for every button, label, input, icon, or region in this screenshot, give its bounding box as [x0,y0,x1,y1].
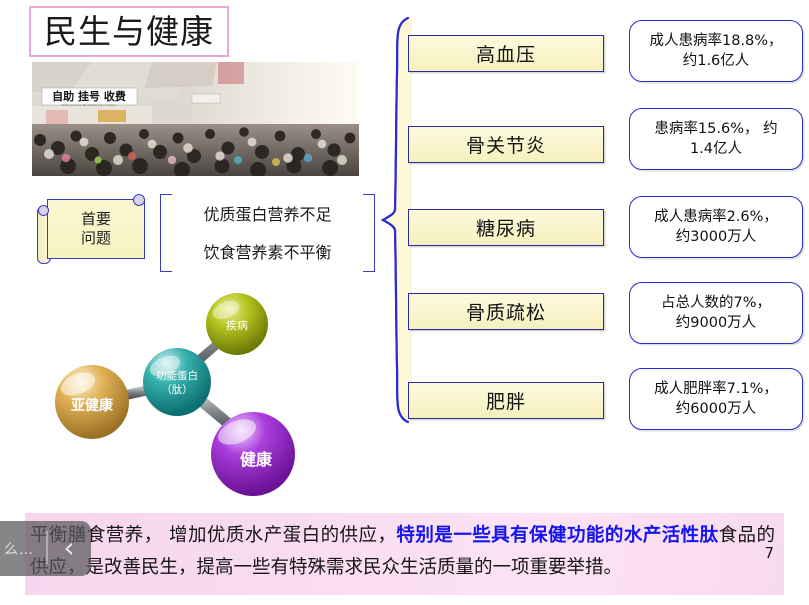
stat-box-hypertension[interactable]: 成人患病率18.8%，约1.6亿人 [629,20,803,82]
problem-item: 饮食营养素不平衡 [203,239,331,263]
disease-label: 高血压 [476,40,536,67]
page-title-text: 民生与健康 [44,15,214,48]
sub-health-sphere: 亚健康 [55,365,129,439]
scroll-knob-left-icon [38,205,49,216]
previous-chevron-icon[interactable]: ‹ [54,528,84,568]
svg-text:自助 挂号 收费: 自助 挂号 收费 [52,89,126,103]
player-overlay[interactable]: 么… ‹ [0,521,91,576]
page-title: 民生与健康 [29,6,229,57]
stat-box-osteoarthritis[interactable]: 患病率15.6%， 约1.4亿人 [629,108,803,170]
scroll-body: 首要问题 [47,199,145,259]
stat-text: 成人肥胖率7.1%，约6000万人 [648,379,784,419]
stat-box-obesity[interactable]: 成人肥胖率7.1%，约6000万人 [629,368,803,430]
problem-item: 优质蛋白营养不足 [203,201,331,225]
svg-text:功能蛋白: 功能蛋白 [156,369,198,382]
problem-list: 优质蛋白营养不足 饮食营养素不平衡 [160,194,375,270]
stat-text: 占总人数的7%，约9000万人 [655,293,777,333]
svg-text:亚健康: 亚健康 [71,397,114,414]
overlay-divider [46,531,48,564]
scroll-knob-right-icon [133,194,145,206]
disease-box-obesity[interactable]: 肥胖 [408,382,604,419]
disease-box-hypertension[interactable]: 高血压 [408,35,604,72]
disease-label: 骨关节炎 [466,131,546,158]
stat-box-osteoporosis[interactable]: 占总人数的7%，约9000万人 [629,282,803,344]
conclusion-banner: 平衡膳食营养， 增加优质水产蛋白的供应，特别是一些具有保健功能的水产活性肽食品的… [25,513,784,595]
disease-label: 骨质疏松 [466,298,546,325]
stat-text: 成人患病率2.6%，约3000万人 [648,207,784,247]
scroll-label: 首要问题 [81,210,111,248]
disease-sphere: 疾病 [206,293,268,355]
stat-text: 成人患病率18.8%，约1.6亿人 [643,31,788,71]
stat-text: 患病率15.6%， 约1.4亿人 [648,119,783,159]
svg-text:疾病: 疾病 [226,318,248,332]
stat-box-diabetes[interactable]: 成人患病率2.6%，约3000万人 [629,196,803,258]
disease-box-osteoarthritis[interactable]: 骨关节炎 [408,126,604,163]
functional-protein-diagram: 疾病 功能蛋白 （肽） 亚健康 健康 [40,288,365,510]
problem-lines: 优质蛋白营养不足 饮食营养素不平衡 [171,194,364,270]
disease-label: 糖尿病 [476,214,536,241]
sphere-diagram-artwork: 疾病 功能蛋白 （肽） 亚健康 健康 [40,288,365,510]
conclusion-text: 平衡膳食营养， 增加优质水产蛋白的供应，特别是一些具有保健功能的水产活性肽食品的… [30,520,775,584]
overlay-label: 么… [4,539,34,559]
page-number: 7 [764,544,774,562]
disease-label: 肥胖 [486,387,526,414]
bracket-right-icon [363,194,375,272]
disease-box-diabetes[interactable]: 糖尿病 [408,209,604,246]
grouping-brace-icon [378,14,412,426]
conclusion-highlight: 特别是一些具有保健功能的水产活性肽 [396,525,718,546]
svg-text:健康: 健康 [240,450,273,469]
photo-artwork: 自助 挂号 收费 Self-service Registered Cashier [32,62,359,176]
slide-canvas: 民生与健康 自助 挂号 收费 [0,0,809,605]
hospital-crowd-photo: 自助 挂号 收费 Self-service Registered Cashier [32,62,359,176]
health-sphere: 健康 [211,412,295,496]
functional-protein-sphere: 功能蛋白 （肽） [143,348,211,416]
primary-issue-scroll-banner: 首要问题 [35,193,153,266]
svg-text:（肽）: （肽） [161,383,193,396]
disease-box-osteoporosis[interactable]: 骨质疏松 [408,293,604,330]
